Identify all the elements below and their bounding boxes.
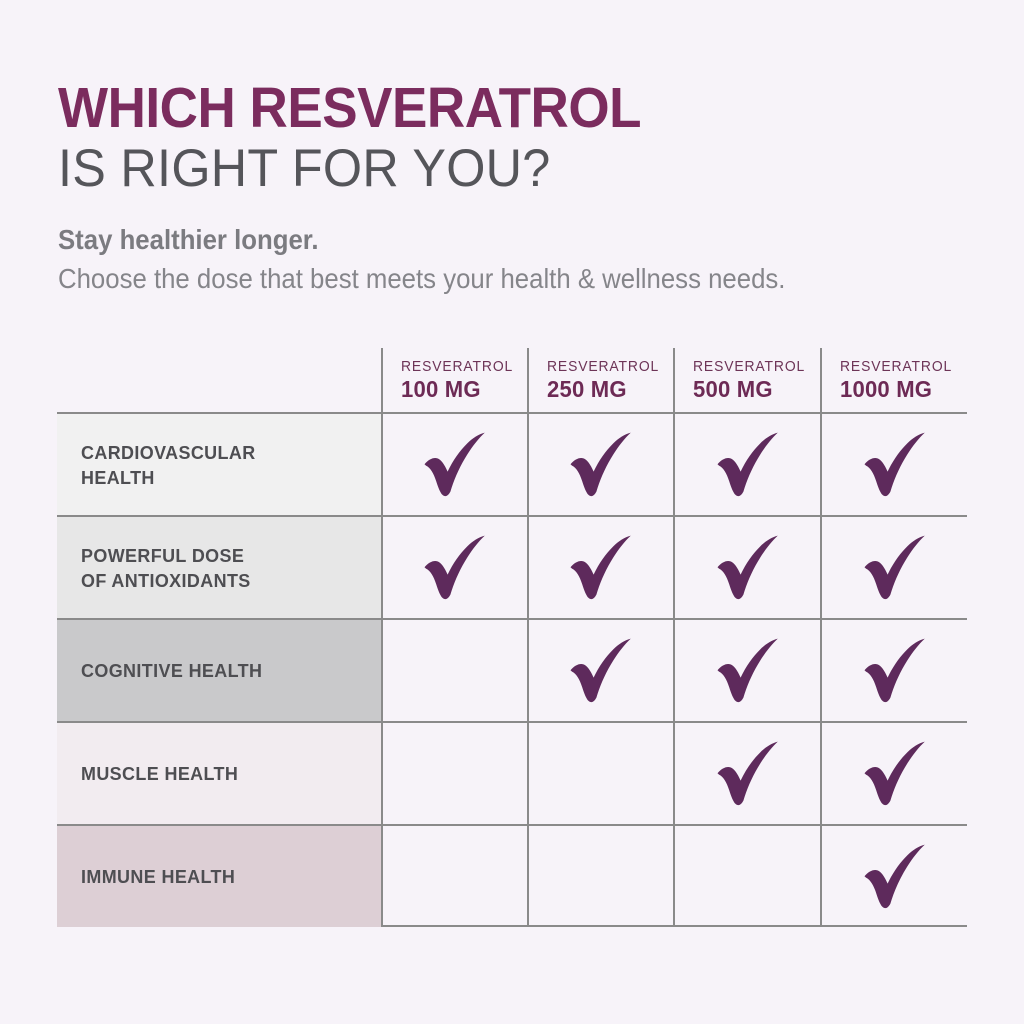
checkmark-icon xyxy=(713,432,783,498)
checkmark-icon xyxy=(860,741,930,807)
table-row: POWERFUL DOSE OF ANTIOXIDANTS xyxy=(57,515,967,618)
checkmark-icon xyxy=(713,741,783,807)
column-header-dose: 100 MG xyxy=(401,376,522,402)
column-header-500mg: RESVERATROL500 MG xyxy=(673,348,820,412)
comparison-infographic: WHICH RESVERATROL IS RIGHT FOR YOU? Stay… xyxy=(0,0,1024,1024)
table-row: COGNITIVE HEALTH xyxy=(57,618,967,721)
benefit-cell-250mg xyxy=(527,517,673,618)
checkmark-icon xyxy=(713,535,783,601)
checkmark-icon xyxy=(566,535,636,601)
checkmark-icon xyxy=(420,432,490,498)
checkmark-icon xyxy=(860,844,930,910)
row-label-cell: CARDIOVASCULAR HEALTH xyxy=(57,414,381,515)
benefit-cell-100mg xyxy=(381,414,527,515)
column-header-brand: RESVERATROL xyxy=(547,359,668,376)
tagline-secondary: Choose the dose that best meets your hea… xyxy=(58,259,914,299)
row-label-cell: POWERFUL DOSE OF ANTIOXIDANTS xyxy=(57,517,381,618)
column-header-brand: RESVERATROL xyxy=(840,359,962,376)
benefit-cell-1000mg xyxy=(820,414,967,515)
checkmark-icon xyxy=(860,638,930,704)
benefit-cell-500mg xyxy=(673,620,820,721)
table-header-row: RESVERATROL100 MGRESVERATROL250 MGRESVER… xyxy=(57,348,967,412)
column-header-1000mg: RESVERATROL1000 MG xyxy=(820,348,967,412)
page-header: WHICH RESVERATROL IS RIGHT FOR YOU? Stay… xyxy=(58,78,988,299)
row-label-text: CARDIOVASCULAR HEALTH xyxy=(81,440,256,490)
table-row: MUSCLE HEALTH xyxy=(57,721,967,824)
row-label-text: IMMUNE HEALTH xyxy=(81,864,235,889)
checkmark-icon xyxy=(566,638,636,704)
benefit-cell-250mg xyxy=(527,723,673,824)
benefit-cell-500mg xyxy=(673,517,820,618)
row-label-cell: COGNITIVE HEALTH xyxy=(57,620,381,721)
row-label-cell: IMMUNE HEALTH xyxy=(57,826,381,927)
checkmark-icon xyxy=(860,432,930,498)
checkmark-icon xyxy=(566,432,636,498)
column-header-250mg: RESVERATROL250 MG xyxy=(527,348,673,412)
benefit-cell-1000mg xyxy=(820,620,967,721)
page-title-secondary: IS RIGHT FOR YOU? xyxy=(58,140,942,198)
checkmark-icon xyxy=(860,535,930,601)
column-header-dose: 500 MG xyxy=(693,376,815,402)
row-label-text: MUSCLE HEALTH xyxy=(81,761,238,786)
benefit-cell-1000mg xyxy=(820,517,967,618)
checkmark-icon xyxy=(713,638,783,704)
benefit-cell-1000mg xyxy=(820,826,967,927)
column-header-dose: 250 MG xyxy=(547,376,668,402)
benefit-cell-100mg xyxy=(381,517,527,618)
column-header-brand: RESVERATROL xyxy=(401,359,522,376)
benefit-cell-1000mg xyxy=(820,723,967,824)
column-header-dose: 1000 MG xyxy=(840,376,962,402)
tagline-primary: Stay healthier longer. xyxy=(58,221,914,259)
page-title-primary: WHICH RESVERATROL xyxy=(58,78,923,138)
column-header-100mg: RESVERATROL100 MG xyxy=(381,348,527,412)
benefit-cell-100mg xyxy=(381,620,527,721)
benefit-cell-250mg xyxy=(527,826,673,927)
row-label-text: POWERFUL DOSE OF ANTIOXIDANTS xyxy=(81,543,251,593)
dose-comparison-table: RESVERATROL100 MGRESVERATROL250 MGRESVER… xyxy=(57,348,967,929)
benefit-cell-250mg xyxy=(527,620,673,721)
benefit-cell-100mg xyxy=(381,723,527,824)
checkmark-icon xyxy=(420,535,490,601)
benefit-cell-250mg xyxy=(527,414,673,515)
benefit-cell-500mg xyxy=(673,414,820,515)
table-body: CARDIOVASCULAR HEALTH POWERFUL DOSE OF A… xyxy=(57,412,967,929)
row-label-text: COGNITIVE HEALTH xyxy=(81,658,262,683)
row-label-cell: MUSCLE HEALTH xyxy=(57,723,381,824)
table-row: IMMUNE HEALTH xyxy=(57,824,967,927)
column-header-brand: RESVERATROL xyxy=(693,359,815,376)
benefit-cell-500mg xyxy=(673,723,820,824)
table-row: CARDIOVASCULAR HEALTH xyxy=(57,412,967,515)
benefit-cell-100mg xyxy=(381,826,527,927)
benefit-cell-500mg xyxy=(673,826,820,927)
